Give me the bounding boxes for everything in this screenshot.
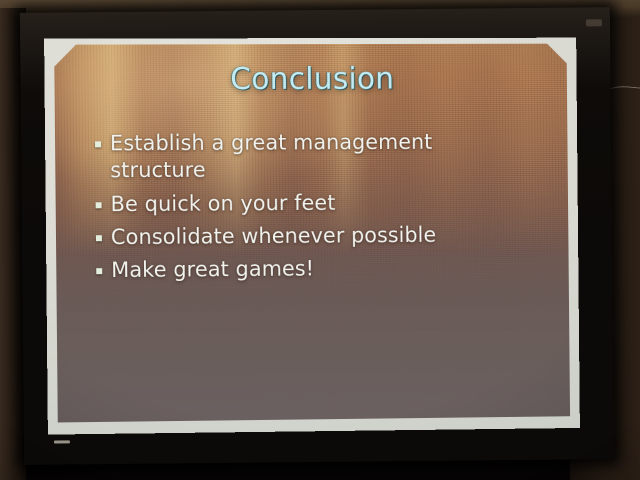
- list-item: Establish a great management structure: [95, 128, 550, 184]
- slide-content: Conclusion Establish a great management …: [54, 44, 570, 423]
- bullet-text: Establish a great management structure: [110, 129, 505, 185]
- screen-brand-badge: [54, 440, 70, 443]
- list-item: Be quick on your feet: [95, 188, 550, 218]
- square-bullet-icon: [95, 141, 101, 147]
- projection-surface: Conclusion Establish a great management …: [44, 38, 580, 435]
- screen-mount-clip: [586, 19, 602, 26]
- projection-screen-frame: Conclusion Establish a great management …: [20, 7, 614, 465]
- square-bullet-icon: [96, 268, 102, 274]
- square-bullet-icon: [96, 202, 102, 208]
- slide-photo-scene: Conclusion Establish a great management …: [0, 0, 640, 480]
- presentation-slide: Conclusion Establish a great management …: [54, 44, 570, 423]
- bullet-text: Be quick on your feet: [110, 189, 335, 218]
- list-item: Make great games!: [96, 254, 551, 285]
- slide-bullet-list: Establish a great management structure B…: [95, 128, 551, 290]
- square-bullet-icon: [96, 235, 102, 241]
- bullet-text: Consolidate whenever possible: [111, 222, 437, 251]
- bullet-text: Make great games!: [111, 256, 314, 285]
- slide-title: Conclusion: [54, 61, 567, 97]
- list-item: Consolidate whenever possible: [96, 221, 551, 251]
